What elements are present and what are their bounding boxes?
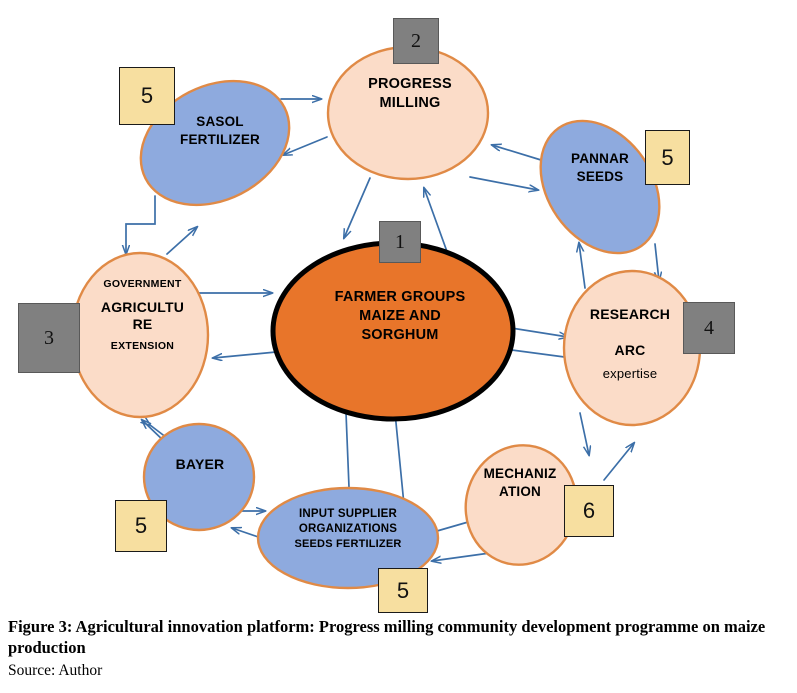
arrow-government-to-sasol (167, 227, 197, 254)
figure-source-text: Source: Author (8, 661, 794, 681)
arrow-pannar-to-progress (492, 145, 541, 160)
node-research-arc[interactable] (564, 271, 700, 425)
badge-6-mechanization[interactable]: 6 (564, 485, 614, 537)
node-pannar-seeds[interactable] (516, 98, 684, 276)
node-government-agriculture-extension[interactable] (72, 253, 208, 417)
badge-5-sasol[interactable]: 5 (119, 67, 175, 125)
arrow-research-to-pannar (579, 243, 585, 288)
arrow-research-to-mechanization (580, 413, 589, 455)
node-progress-milling[interactable] (328, 47, 488, 179)
badge-5-pannar[interactable]: 5 (645, 130, 690, 185)
arrow-progress-to-sasol (283, 137, 327, 155)
arrow-sasol-to-government-elbow (126, 196, 155, 254)
figure-caption-text: Figure 3: Agricultural innovation platfo… (8, 616, 794, 659)
badge-2-progress-milling[interactable]: 2 (393, 18, 439, 64)
innovation-platform-diagram: SASOL FERTILIZER PROGRESS MILLING PANNAR… (0, 0, 797, 615)
arrow-progress-to-pannar (470, 177, 538, 190)
arrow-mechanization-to-input (432, 553, 490, 561)
arrow-mechanization-to-research (604, 443, 634, 480)
badge-4-research[interactable]: 4 (683, 302, 735, 354)
badge-5-bayer[interactable]: 5 (115, 500, 167, 552)
badge-3-government[interactable]: 3 (18, 303, 80, 373)
badge-1-farmer-groups[interactable]: 1 (379, 221, 421, 263)
arrow-progress-to-center (344, 178, 370, 238)
figure-caption: Figure 3: Agricultural innovation platfo… (8, 616, 794, 681)
node-farmer-groups[interactable] (273, 243, 513, 419)
badge-5-input-supplier[interactable]: 5 (378, 568, 428, 613)
